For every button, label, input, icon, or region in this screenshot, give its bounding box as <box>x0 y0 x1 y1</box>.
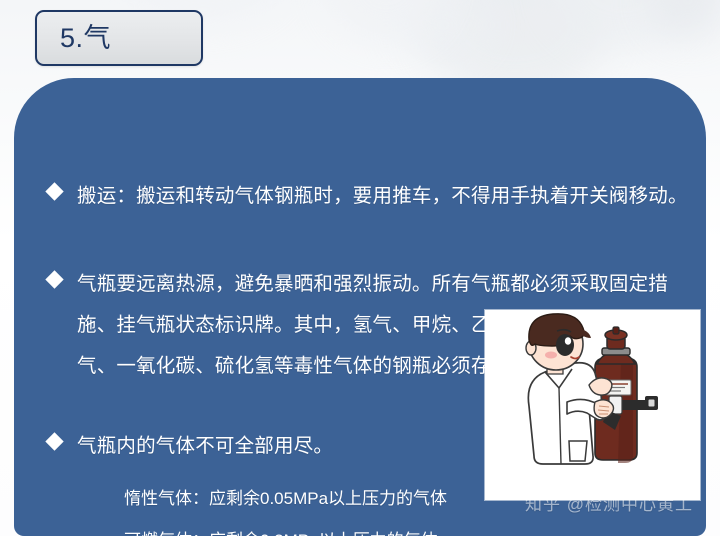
diamond-bullet-icon <box>45 182 63 200</box>
sub-line-flammable-gas: 可燃气体：应剩余0.2MPa以上压力的气体 <box>124 532 438 536</box>
section-title-badge: 5.气 <box>35 10 203 66</box>
diamond-bullet-icon <box>45 432 63 450</box>
bullet-text-1: 搬运：搬运和转动气体钢瓶时，要用推车，不得用手执着开关阀移动。 <box>77 176 698 217</box>
bullet-text-3: 气瓶内的气体不可全部用尽。 <box>77 426 333 467</box>
lab-worker-securing-gas-cylinder-icon <box>485 310 700 500</box>
page-title: 5.气 <box>60 25 111 52</box>
illustration-panel <box>485 310 700 500</box>
sub-line-inert-gas: 惰性气体：应剩余0.05MPa以上压力的气体 <box>124 490 447 507</box>
bullet-item-3: 气瓶内的气体不可全部用尽。 <box>48 426 528 467</box>
diamond-bullet-icon <box>45 270 63 288</box>
bullet-item-1: 搬运：搬运和转动气体钢瓶时，要用推车，不得用手执着开关阀移动。 <box>48 176 698 217</box>
slide-canvas: 5.气 搬运：搬运和转动气体钢瓶时，要用推车，不得用手执着开关阀移动。 气瓶要远… <box>0 0 720 536</box>
